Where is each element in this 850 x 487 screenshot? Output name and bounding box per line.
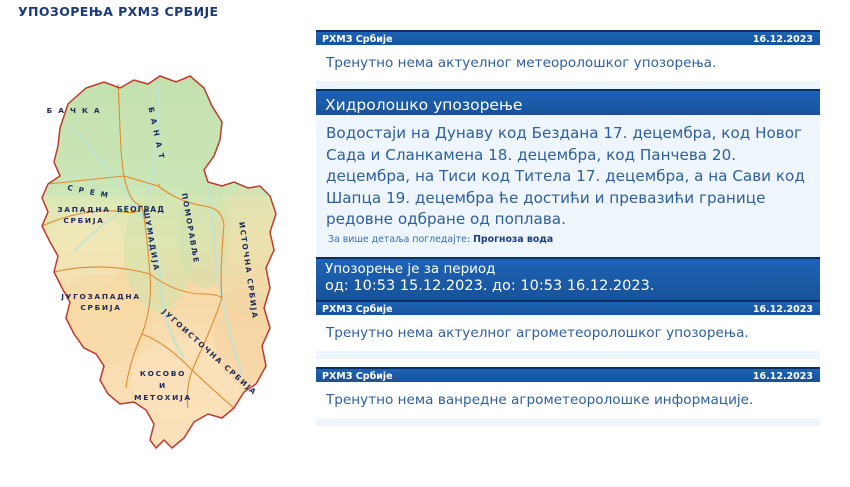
agro-warning-header-date: 16.12.2023 xyxy=(753,303,813,316)
meteo-spacer xyxy=(316,81,820,89)
agro-info-body: Тренутно нема ванредне агрометеоролошке … xyxy=(316,382,820,418)
agro-warning-header: РХМЗ Србије 16.12.2023 xyxy=(316,300,820,315)
map-label-i: И xyxy=(159,381,167,390)
hydro-header-title: Хидролошко упозорење xyxy=(325,96,522,114)
agro-info-text: Тренутно нема ванредне агрометеоролошке … xyxy=(326,390,810,410)
hydro-warning-text: Водостаји на Дунаву код Бездана 17. деце… xyxy=(326,123,810,231)
hydro-period-title: Упозорење је за период xyxy=(325,262,811,277)
agro-info-header-date: 16.12.2023 xyxy=(753,370,813,383)
map-label-metohija: МЕТОХИЈА xyxy=(134,393,192,402)
agro-warning-text: Тренутно нема актуелног агрометеоролошко… xyxy=(326,323,810,343)
hydro-more-details: За више детаља погледајте: Прогноза вода xyxy=(326,231,810,249)
map-of-serbia[interactable]: Б А Ч К А Б А Н А Т С Р Е М ШУМАДИЈА ПОМ… xyxy=(8,36,304,476)
page-title: УПОЗОРЕЊА РХМЗ СРБИЈЕ xyxy=(18,4,218,19)
hydro-more-prefix: За више детаља погледајте: xyxy=(328,234,470,245)
map-label-jugozapadna: ЈУГОЗАПАДНА xyxy=(60,292,141,301)
map-label-beograd: БЕОГРАД xyxy=(117,205,165,214)
map-label-zapadna-2: СРБИЈА xyxy=(63,216,104,225)
meteo-warning-header: РХМЗ Србије 16.12.2023 xyxy=(316,30,820,45)
warnings-panel: РХМЗ Србије 16.12.2023 Тренутно нема акт… xyxy=(316,30,820,426)
hydro-forecast-link[interactable]: Прогноза вода xyxy=(473,234,553,245)
agro-warning-header-source: РХМЗ Србије xyxy=(322,304,393,315)
agro-info-header: РХМЗ Србије 16.12.2023 xyxy=(316,367,820,382)
agro-info-header-source: РХМЗ Србије xyxy=(322,371,393,382)
meteo-header-date: 16.12.2023 xyxy=(753,33,813,46)
meteo-warning-body: Тренутно нема актуелног метеоролошког уп… xyxy=(316,45,820,81)
hydro-period-range: од: 10:53 15.12.2023. до: 10:53 16.12.20… xyxy=(325,277,811,295)
map-label-backa: Б А Ч К А xyxy=(47,106,102,115)
hydro-warning-header: Хидролошко упозорење xyxy=(316,89,820,115)
map-label-jugozapadna-2: СРБИЈА xyxy=(80,303,121,312)
serbia-map-svg: Б А Ч К А Б А Н А Т С Р Е М ШУМАДИЈА ПОМ… xyxy=(8,36,304,476)
meteo-header-source: РХМЗ Србије xyxy=(322,34,393,45)
agro-info-spacer xyxy=(316,418,820,426)
meteo-warning-text: Тренутно нема актуелног метеоролошког уп… xyxy=(326,53,810,73)
agro-warning-body: Тренутно нема актуелног агрометеоролошко… xyxy=(316,315,820,351)
map-label-zapadna: ЗАПАДНА xyxy=(57,205,110,214)
agro-spacer-2 xyxy=(316,359,820,367)
agro-spacer xyxy=(316,351,820,359)
hydro-period-bar: Упозорење је за период од: 10:53 15.12.2… xyxy=(316,257,820,300)
map-label-kosovo: КОСОВО xyxy=(140,369,186,378)
hydro-warning-body: Водостаји на Дунаву код Бездана 17. деце… xyxy=(316,115,820,257)
